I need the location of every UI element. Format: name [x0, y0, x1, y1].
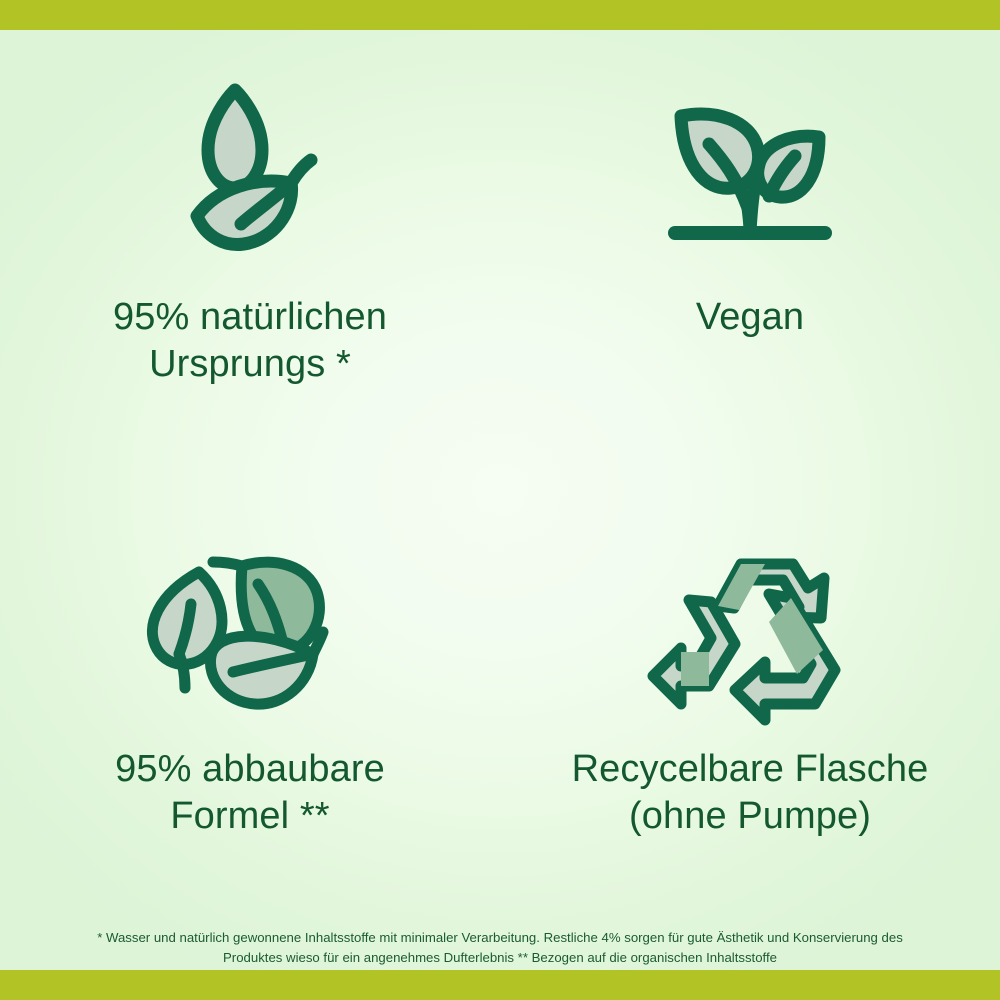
droplet-leaf-icon	[145, 76, 355, 266]
claim-vegan: Vegan	[500, 30, 1000, 480]
claim-label: Vegan	[696, 294, 804, 341]
claim-natural-origin: 95% natürlichen Ursprungs *	[0, 30, 500, 480]
eco-claims-poster: 95% natürlichen Ursprungs * Vegan	[0, 0, 1000, 1000]
three-leaves-circle-icon	[145, 538, 355, 728]
claim-label: Recycelbare Flasche (ohne Pumpe)	[572, 746, 929, 839]
claim-recyclable-bottle: Recycelbare Flasche (ohne Pumpe)	[500, 480, 1000, 930]
recycle-arrows-icon	[645, 538, 855, 728]
claims-grid: 95% natürlichen Ursprungs * Vegan	[0, 30, 1000, 930]
footnote-text: * Wasser und natürlich gewonnene Inhalts…	[60, 928, 940, 968]
claim-label: 95% abbaubare Formel **	[115, 746, 385, 839]
claim-biodegradable: 95% abbaubare Formel **	[0, 480, 500, 930]
top-accent-bar	[0, 0, 1000, 30]
sprout-icon	[645, 76, 855, 266]
claim-label: 95% natürlichen Ursprungs *	[113, 294, 387, 387]
bottom-accent-bar	[0, 970, 1000, 1000]
